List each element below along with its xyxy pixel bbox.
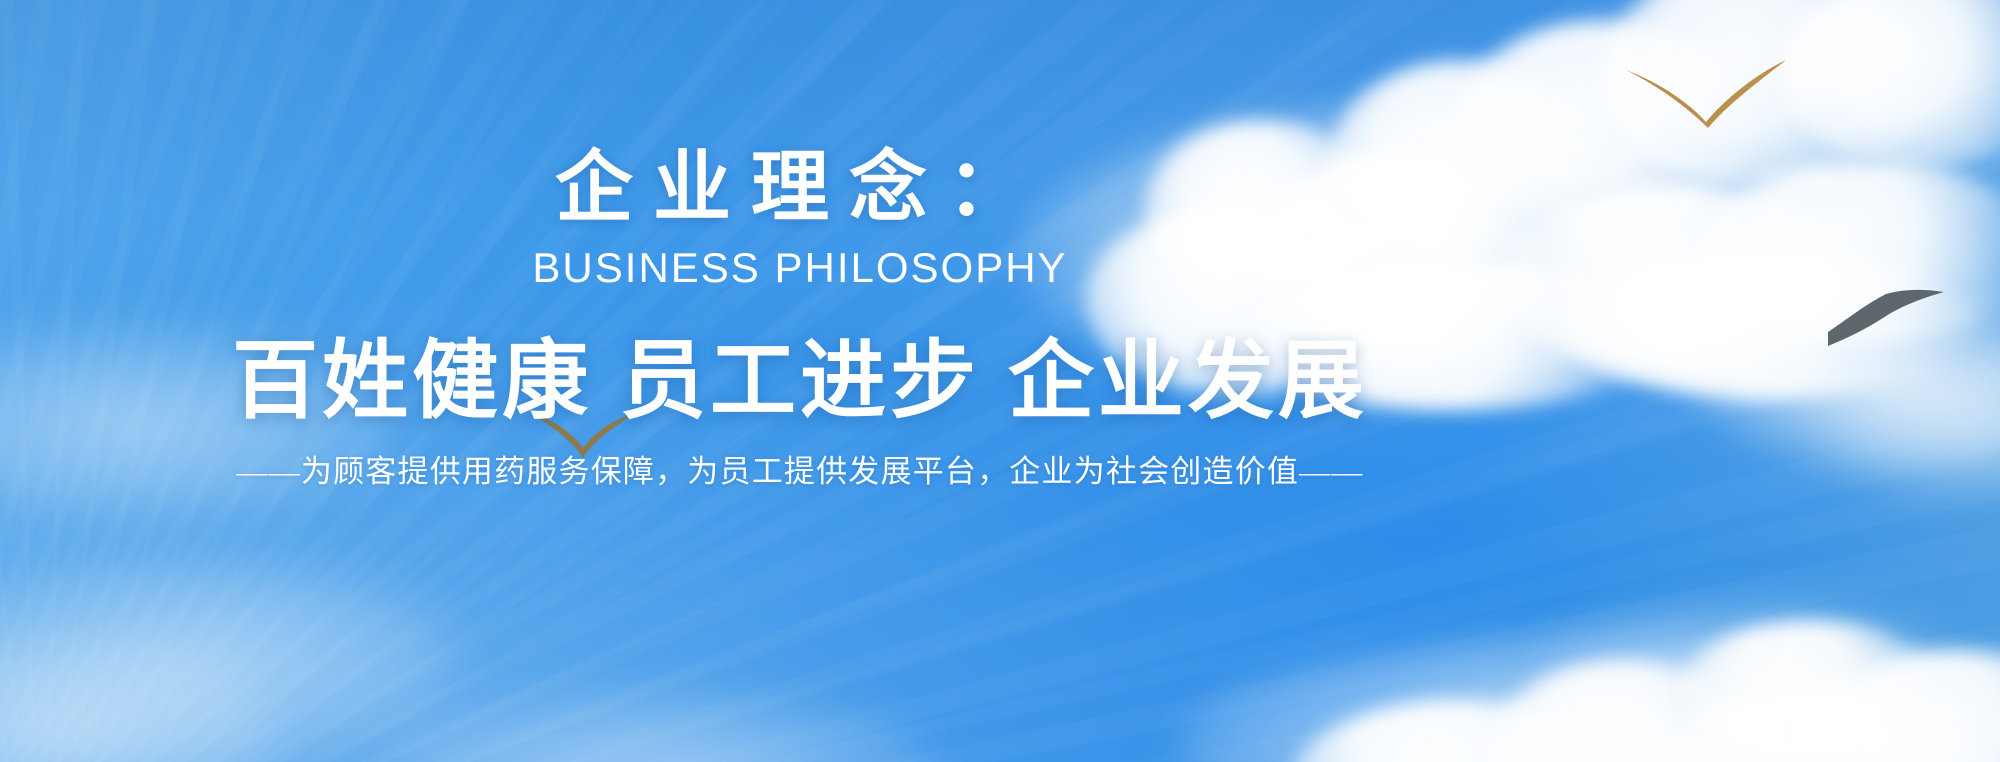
cloud-puff-l <box>1290 700 1620 762</box>
cloud-puff-m <box>1490 660 1760 762</box>
cloud-wisp-right-mid <box>1820 360 2000 500</box>
cloud-puff-g <box>1780 0 2000 170</box>
bird-top-right <box>1622 42 1790 128</box>
cloud-wisp-lower-right <box>1540 600 1960 730</box>
cloud-haze-lower-right <box>1180 630 2000 762</box>
banner-copy-block: 企业理念： BUSINESS PHILOSOPHY 百姓健康 员工进步 企业发展… <box>0 0 1600 490</box>
cloud-wisp-left-edge <box>0 640 280 762</box>
bird-wing-path <box>1626 60 1786 128</box>
cloud-puff-p <box>1680 620 1940 760</box>
cloud-puff-n <box>1650 690 1980 762</box>
bird-right-lower <box>1828 286 1948 348</box>
bird-wing-path <box>1828 290 1944 346</box>
business-philosophy-banner: 企业理念： BUSINESS PHILOSOPHY 百姓健康 员工进步 企业发展… <box>0 0 2000 762</box>
tagline-chinese: ——为顾客提供用药服务保障，为员工提供发展平台，企业为社会创造价值—— <box>0 453 1600 490</box>
cloud-wisp-left-lower <box>0 560 460 760</box>
headline-chinese: 企业理念： <box>0 146 1600 229</box>
headline-english: BUSINESS PHILOSOPHY <box>0 245 1600 291</box>
cloud-wisp-center-low <box>380 690 940 762</box>
cloud-puff-o <box>1810 650 2000 762</box>
slogan-chinese: 百姓健康 员工进步 企业发展 <box>0 333 1600 429</box>
